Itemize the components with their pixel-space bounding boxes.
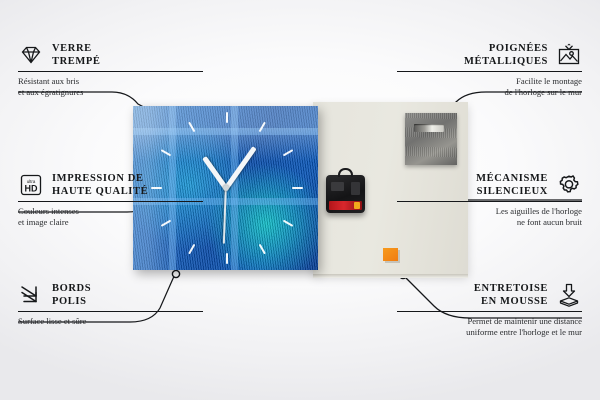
foam-spacer-arrow-icon: [556, 283, 582, 307]
mechanism-hanger-loop: [338, 168, 353, 177]
metal-hanging-plate: [405, 113, 457, 165]
mechanism-chip-left: [331, 182, 344, 191]
feature-rule: [397, 311, 582, 312]
feature-verre-trempe: VERRE TREMPÉ Résistant aux bris et aux é…: [18, 42, 203, 97]
feature-desc-line2: uniforme entre l'horloge et le mur: [397, 327, 582, 338]
feature-title-line2: EN MOUSSE: [474, 295, 548, 308]
feature-desc-line1: Facilite le montage: [397, 76, 582, 87]
feature-title-line1: POIGNÉES: [464, 42, 548, 55]
feature-desc-line1: Résistant aux bris: [18, 76, 203, 87]
feature-title-line2: POLIS: [52, 295, 91, 308]
battery: [329, 201, 362, 210]
feature-title-line2: TREMPÉ: [52, 55, 101, 68]
feature-title-line1: MÉCANISME: [476, 172, 548, 185]
mechanism-chip-right: [351, 182, 360, 195]
feature-desc-line2: ne font aucun bruit: [397, 217, 582, 228]
gear-icon: [556, 173, 582, 197]
foam-spacer: [383, 248, 398, 261]
feature-desc-line1: Permet de maintenir une distance: [397, 316, 582, 327]
feature-mecanisme-silencieux: MÉCANISME SILENCIEUX Les aiguilles de l'…: [397, 172, 582, 227]
feature-impression-haute-qualite: ultra HD IMPRESSION DE HAUTE QUALITÉ Cou…: [18, 172, 203, 227]
feature-title-line2: SILENCIEUX: [476, 185, 548, 198]
ultra-hd-big-text: HD: [25, 184, 38, 194]
feature-desc-line1: Surface lisse et sûre: [18, 316, 203, 327]
feature-title-line2: HAUTE QUALITÉ: [52, 185, 148, 198]
feature-desc-line2: et image claire: [18, 217, 203, 228]
feature-title-line1: IMPRESSION DE: [52, 172, 148, 185]
diamond-icon: [18, 43, 44, 67]
feature-rule: [397, 71, 582, 72]
feature-rule: [18, 201, 203, 202]
feature-title-line2: MÉTALLIQUES: [464, 55, 548, 68]
feature-poignees-metalliques: POIGNÉES MÉTALLIQUES Facilite le montage…: [397, 42, 582, 97]
feature-entretoise-en-mousse: ENTRETOISE EN MOUSSE Permet de maintenir…: [397, 282, 582, 337]
feature-desc-line1: Les aiguilles de l'horloge: [397, 206, 582, 217]
feature-desc-line1: Couleurs intenses: [18, 206, 203, 217]
plate-slot: [414, 124, 444, 132]
picture-frame-hanger-icon: [556, 43, 582, 67]
polished-edges-icon: [18, 283, 44, 307]
feature-title-line1: VERRE: [52, 42, 101, 55]
hand-cap: [223, 185, 229, 191]
feature-desc-line2: de l'horloge sur le mur: [397, 87, 582, 98]
clock-mechanism: [326, 175, 365, 213]
feature-desc-line2: et aux égratignures: [18, 87, 203, 98]
feature-rule: [397, 201, 582, 202]
feature-rule: [18, 311, 203, 312]
infographic-canvas: VERRE TREMPÉ Résistant aux bris et aux é…: [0, 0, 600, 400]
feature-rule: [18, 71, 203, 72]
ultra-hd-icon: ultra HD: [18, 173, 44, 197]
feature-bords-polis: BORDS POLIS Surface lisse et sûre: [18, 282, 203, 327]
feature-title-line1: BORDS: [52, 282, 91, 295]
feature-title-line1: ENTRETOISE: [474, 282, 548, 295]
